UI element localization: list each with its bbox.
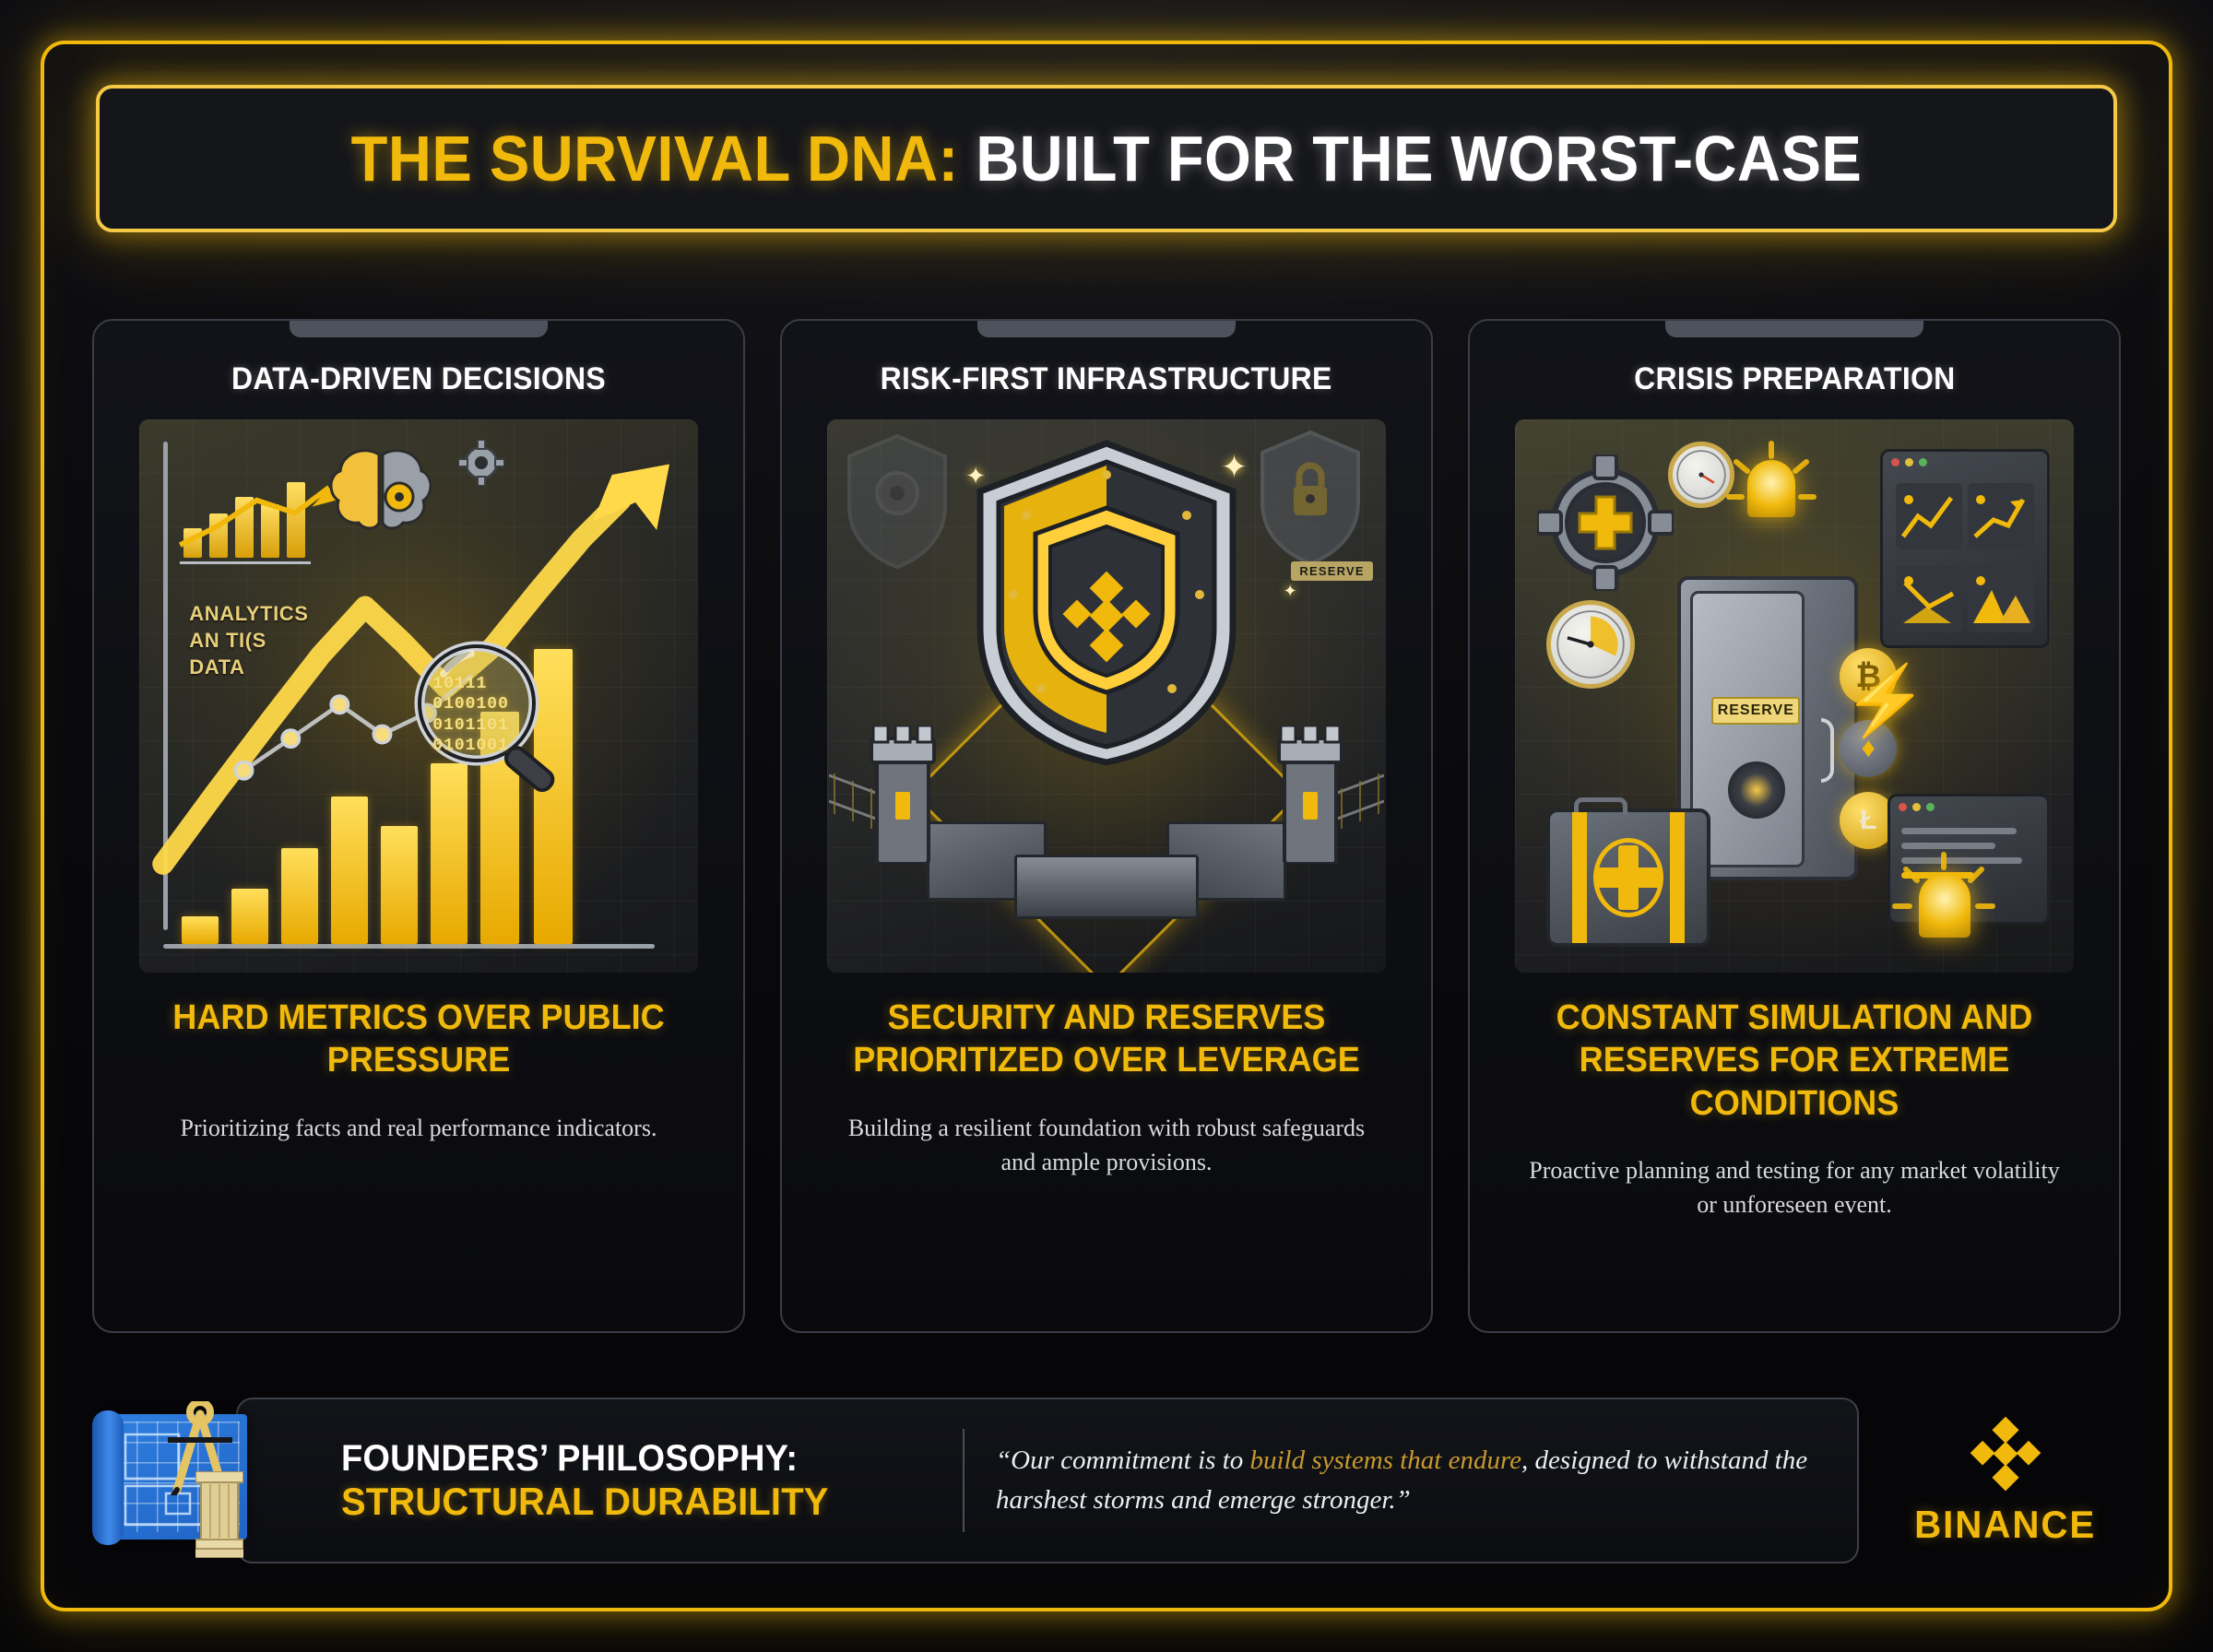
pillar-card-risk-first[interactable]: RISK-FIRST INFRASTRUCTURE RESERVE bbox=[780, 319, 1433, 1333]
pillar-card-data-driven[interactable]: DATA-DRIVEN DECISIONS bbox=[92, 319, 745, 1333]
dashboard-panel-icon bbox=[1880, 449, 2050, 648]
reserve-label: RESERVE bbox=[1711, 697, 1800, 725]
philosophy-line-1: FOUNDERS’ PHILOSOPHY: bbox=[341, 1438, 902, 1480]
coin-symbol: Ł bbox=[1860, 805, 1876, 836]
page-title-white: BUILT FOR THE WORST-CASE bbox=[959, 123, 1863, 195]
beacon-rays-icon bbox=[1725, 440, 1817, 532]
binance-wordmark: BINANCE bbox=[1914, 1503, 2096, 1547]
binary-line-1: 0100100 bbox=[432, 694, 509, 714]
shield-fortress-illustration: RESERVE ✦ ✦ ✦ bbox=[827, 419, 1385, 973]
binance-brand: BINANCE bbox=[1890, 1414, 2121, 1547]
blueprint-compass-column-icon bbox=[92, 1403, 249, 1558]
card-body-2: Building a resilient foundation with rob… bbox=[782, 1112, 1431, 1180]
card-body-3: Proactive planning and testing for any m… bbox=[1470, 1154, 2119, 1222]
safe-handle-icon bbox=[1821, 718, 1834, 783]
binance-diamond-logo bbox=[1966, 1414, 2045, 1493]
binary-line-3: 0101001 bbox=[432, 736, 509, 756]
infographic-poster: THE SURVIVAL DNA: BUILT FOR THE WORST-CA… bbox=[0, 0, 2213, 1652]
analytics-label-0: ANALYTICS bbox=[189, 600, 308, 627]
pillar-cards-row: DATA-DRIVEN DECISIONS bbox=[92, 319, 2121, 1333]
safe-dial-icon bbox=[1728, 761, 1785, 819]
sparkle-icon: ✦ bbox=[1284, 582, 1297, 601]
binance-shield-icon bbox=[973, 438, 1240, 770]
stopwatch-icon bbox=[1546, 600, 1635, 689]
card-subtitle-1: HARD METRICS OVER PUBLIC PRESSURE bbox=[111, 997, 728, 1082]
founders-philosophy-block: FOUNDERS’ PHILOSOPHY: STRUCTURAL DURABIL… bbox=[341, 1438, 931, 1524]
castle-wall-icon bbox=[1014, 855, 1199, 919]
binary-readout: 10111 0100100 0101101 0101001 bbox=[432, 674, 509, 756]
analytics-label-2: DATA bbox=[189, 654, 308, 680]
chart-tile bbox=[1968, 483, 2034, 549]
philosophy-panel: FOUNDERS’ PHILOSOPHY: STRUCTURAL DURABIL… bbox=[236, 1398, 1859, 1563]
castle-tower-icon bbox=[1277, 726, 1343, 864]
binary-line-0: 10111 bbox=[432, 674, 509, 694]
philosophy-line-2: STRUCTURAL DURABILITY bbox=[341, 1480, 902, 1524]
gear-cross-icon bbox=[1537, 454, 1674, 591]
gear-shield-icon bbox=[842, 432, 953, 571]
card-subtitle-2: SECURITY AND RESERVES PRIORITIZED OVER L… bbox=[799, 997, 1415, 1082]
window-dots bbox=[1899, 803, 1935, 811]
card-subtitle-3: CONSTANT SIMULATION AND RESERVES FOR EXT… bbox=[1486, 997, 2103, 1125]
quote-highlight: build systems that endure bbox=[1250, 1445, 1522, 1475]
analytics-label-1: AN TI(S bbox=[189, 627, 308, 654]
card-body-1: Prioritizing facts and real performance … bbox=[133, 1112, 705, 1146]
analytics-label-block: ANALYTICS AN TI(S DATA bbox=[189, 600, 308, 680]
pillar-card-crisis-prep[interactable]: CRISIS PREPARATION bbox=[1468, 319, 2121, 1333]
padlock-shield-icon bbox=[1255, 429, 1366, 567]
window-dots bbox=[1891, 458, 1927, 466]
first-aid-kit-icon bbox=[1546, 808, 1710, 947]
brain-icon bbox=[322, 445, 440, 545]
chart-tile bbox=[1968, 566, 2034, 632]
page-title-gold: THE SURVIVAL DNA: bbox=[351, 123, 959, 195]
chart-tile bbox=[1896, 483, 1962, 549]
card-header-3: CRISIS PREPARATION bbox=[1634, 361, 1955, 397]
card-header-1: DATA-DRIVEN DECISIONS bbox=[231, 361, 606, 397]
reserve-label: RESERVE bbox=[1291, 561, 1372, 581]
crisis-readiness-illustration: RESERVE ₿ bbox=[1515, 419, 2073, 973]
castle-tower-icon bbox=[870, 726, 936, 864]
chart-tile bbox=[1896, 566, 1962, 632]
blueprint-roll bbox=[92, 1410, 124, 1545]
gear-icon bbox=[458, 440, 504, 486]
page-title: THE SURVIVAL DNA: BUILT FOR THE WORST-CA… bbox=[351, 122, 1863, 195]
classical-column-icon bbox=[195, 1471, 243, 1558]
title-banner: THE SURVIVAL DNA: BUILT FOR THE WORST-CA… bbox=[96, 85, 2117, 232]
founders-quote: “Our commitment is to build systems that… bbox=[996, 1441, 1826, 1520]
footer-bar: FOUNDERS’ PHILOSOPHY: STRUCTURAL DURABIL… bbox=[92, 1398, 2121, 1563]
footer-divider bbox=[963, 1429, 964, 1532]
lightning-bolt-icon: ⚡ bbox=[1843, 667, 1928, 735]
analytics-chart-illustration: ANALYTICS AN TI(S DATA 10111 0100100 010… bbox=[139, 419, 697, 973]
card-header-2: RISK-FIRST INFRASTRUCTURE bbox=[881, 361, 1332, 397]
binary-line-2: 0101101 bbox=[432, 715, 509, 736]
quote-pre: “Our commitment is to bbox=[996, 1445, 1250, 1475]
beacon-rays-icon bbox=[1891, 851, 1996, 947]
